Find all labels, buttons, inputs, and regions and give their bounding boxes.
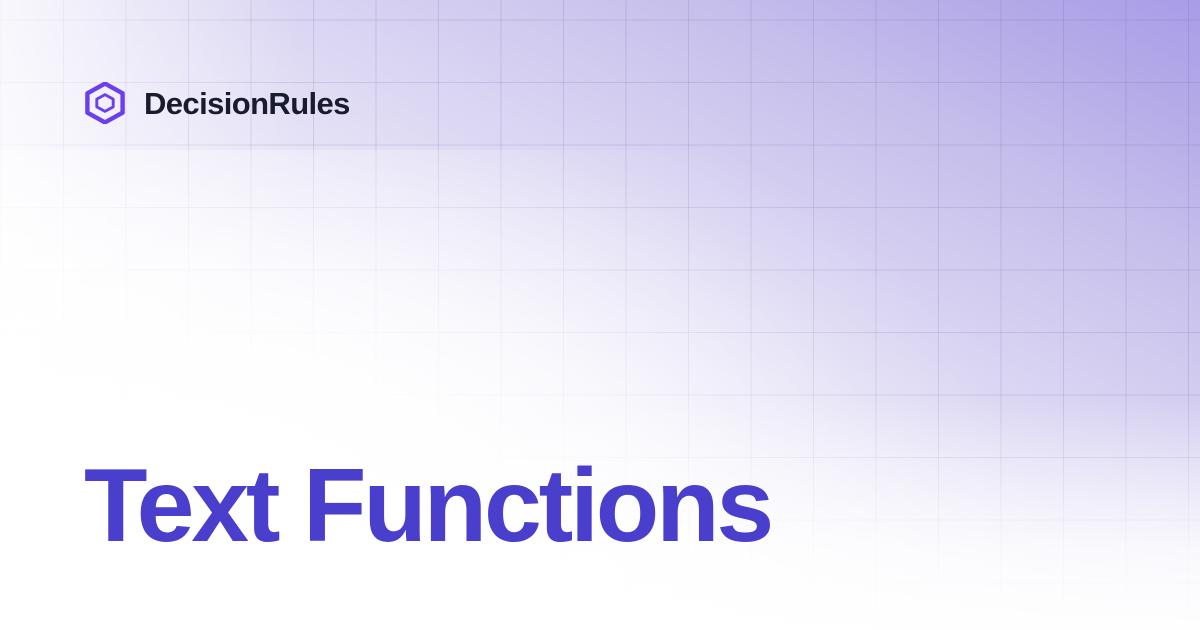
page-title: Text Functions — [84, 454, 771, 558]
brand-name: DecisionRules — [144, 88, 350, 119]
brand-lockup: DecisionRules — [84, 82, 350, 124]
og-card: DecisionRules Text Functions — [0, 0, 1200, 630]
hexagon-logo-icon — [84, 82, 126, 124]
